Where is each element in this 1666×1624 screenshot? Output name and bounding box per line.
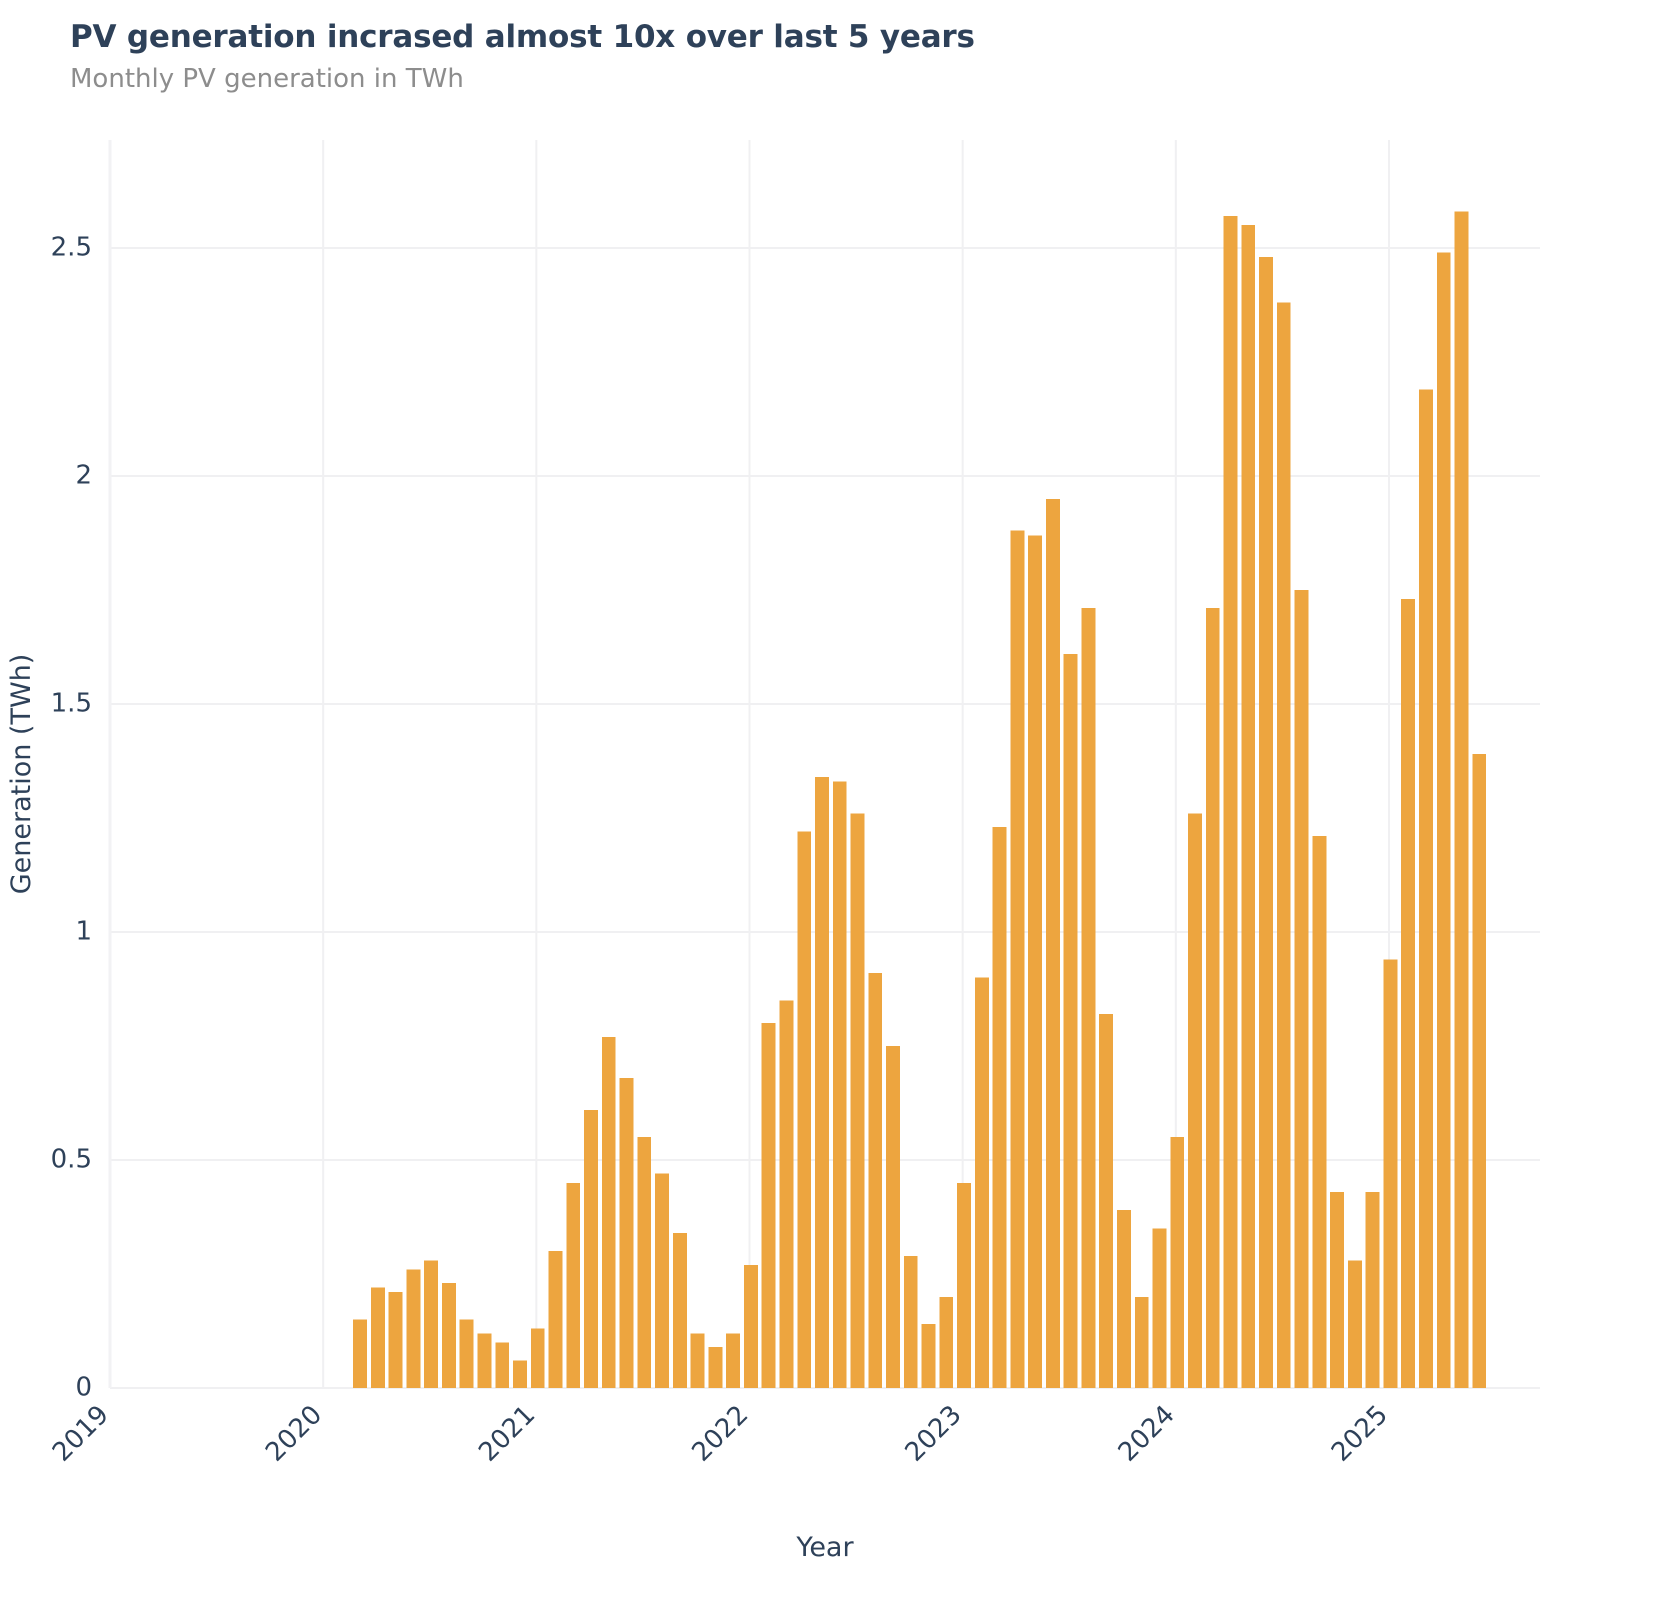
y-tick-label: 0.5 — [51, 1145, 92, 1175]
bar[interactable] — [406, 1269, 420, 1388]
bar[interactable] — [1046, 499, 1060, 1388]
bar[interactable] — [815, 777, 829, 1388]
bar[interactable] — [993, 827, 1007, 1388]
bar[interactable] — [1081, 608, 1095, 1388]
x-axis-title: Year — [795, 1532, 854, 1563]
bar[interactable] — [1366, 1192, 1380, 1388]
bar[interactable] — [620, 1078, 634, 1388]
x-tick-label: 2025 — [1326, 1400, 1394, 1468]
bar[interactable] — [1312, 836, 1326, 1388]
bar[interactable] — [851, 813, 865, 1388]
bar[interactable] — [602, 1037, 616, 1388]
bar[interactable] — [566, 1183, 580, 1388]
bar[interactable] — [1348, 1260, 1362, 1388]
y-tick-label: 1 — [75, 917, 92, 947]
bar[interactable] — [549, 1251, 563, 1388]
y-tick-label: 0 — [75, 1373, 92, 1403]
bar[interactable] — [584, 1110, 598, 1388]
bar-chart-svg: 00.511.522.5 201920202021202220232024202… — [0, 0, 1666, 1624]
bars-group — [353, 212, 1486, 1388]
bar[interactable] — [389, 1292, 403, 1388]
x-tick-label: 2021 — [473, 1400, 541, 1468]
bar[interactable] — [1472, 754, 1486, 1388]
bar[interactable] — [1206, 608, 1220, 1388]
bar[interactable] — [1135, 1297, 1149, 1388]
y-axis-group: 00.511.522.5 — [51, 233, 92, 1403]
bar[interactable] — [1259, 257, 1273, 1388]
bar[interactable] — [1241, 225, 1255, 1388]
bar[interactable] — [957, 1183, 971, 1388]
bar[interactable] — [495, 1342, 509, 1388]
bar[interactable] — [637, 1137, 651, 1388]
y-tick-label: 2.5 — [51, 233, 92, 263]
bar[interactable] — [1455, 212, 1469, 1388]
bar[interactable] — [353, 1320, 367, 1388]
bar[interactable] — [691, 1333, 705, 1388]
x-tick-label: 2019 — [47, 1400, 115, 1468]
bar[interactable] — [1224, 216, 1238, 1388]
bar[interactable] — [1170, 1137, 1184, 1388]
bar[interactable] — [939, 1297, 953, 1388]
bar[interactable] — [1099, 1014, 1113, 1388]
bar[interactable] — [1153, 1228, 1167, 1388]
bar[interactable] — [904, 1256, 918, 1388]
bar[interactable] — [460, 1320, 474, 1388]
bar[interactable] — [513, 1361, 527, 1388]
bar[interactable] — [531, 1329, 545, 1388]
bar[interactable] — [371, 1288, 385, 1388]
bar[interactable] — [1401, 599, 1415, 1388]
bar[interactable] — [1437, 253, 1451, 1388]
x-tick-label: 2022 — [686, 1400, 754, 1468]
bar[interactable] — [868, 973, 882, 1388]
x-tick-label: 2024 — [1113, 1400, 1181, 1468]
bar[interactable] — [1010, 531, 1024, 1388]
bar[interactable] — [886, 1046, 900, 1388]
y-axis-title: Generation (TWh) — [6, 654, 37, 895]
x-tick-label: 2023 — [900, 1400, 968, 1468]
y-tick-label: 2 — [75, 461, 92, 491]
bar[interactable] — [1383, 959, 1397, 1388]
bar[interactable] — [744, 1265, 758, 1388]
bar[interactable] — [1064, 654, 1078, 1388]
bar[interactable] — [673, 1233, 687, 1388]
y-tick-label: 1.5 — [51, 689, 92, 719]
bar[interactable] — [655, 1174, 669, 1388]
bar[interactable] — [1295, 590, 1309, 1388]
bar[interactable] — [726, 1333, 740, 1388]
x-tick-label: 2020 — [260, 1400, 328, 1468]
bar[interactable] — [1117, 1210, 1131, 1388]
bar[interactable] — [424, 1260, 438, 1388]
x-axis-group: 2019202020212022202320242025 — [47, 1400, 1394, 1468]
bar[interactable] — [1188, 813, 1202, 1388]
bar[interactable] — [1330, 1192, 1344, 1388]
bar[interactable] — [797, 832, 811, 1388]
bar[interactable] — [833, 782, 847, 1388]
bar[interactable] — [779, 1000, 793, 1388]
bar[interactable] — [762, 1023, 776, 1388]
bar[interactable] — [1028, 535, 1042, 1388]
bar[interactable] — [975, 978, 989, 1388]
bar[interactable] — [708, 1347, 722, 1388]
bar[interactable] — [478, 1333, 492, 1388]
chart-root: PV generation incrased almost 10x over l… — [0, 0, 1666, 1624]
bar[interactable] — [442, 1283, 456, 1388]
bar[interactable] — [1419, 389, 1433, 1388]
bar[interactable] — [1277, 303, 1291, 1388]
plot-area: 00.511.522.5 201920202021202220232024202… — [0, 0, 1666, 1624]
bar[interactable] — [922, 1324, 936, 1388]
